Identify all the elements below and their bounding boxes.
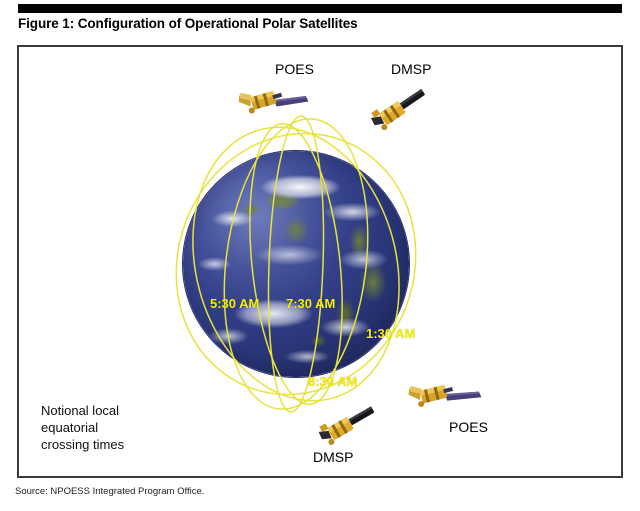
top-black-rule	[18, 4, 622, 13]
satellite-icon-poes-top	[238, 80, 310, 122]
satellite-icon-poes-bottom	[407, 374, 483, 418]
orbit-ring-4	[264, 115, 328, 413]
satellite-label-poes-bottom: POES	[449, 419, 488, 435]
crossing-time-0130: 1:30 AM	[366, 326, 415, 341]
crossing-time-0730: 7:30 AM	[286, 296, 335, 311]
dmsp-solar-panel	[400, 89, 425, 109]
satellite-label-dmsp-top: DMSP	[391, 61, 431, 77]
notional-caption-line-3: crossing times	[41, 436, 124, 453]
crossing-time-0530: 5:30 AM	[210, 296, 259, 311]
diagram-stage: 5:30 AM 7:30 AM 1:30 AM 8:30 AM	[19, 47, 623, 476]
figure-page: Figure 1: Configuration of Operational P…	[0, 0, 640, 511]
notional-crossing-caption: Notional local equatorial crossing times	[41, 402, 124, 453]
notional-caption-line-1: Notional local	[41, 402, 124, 419]
notional-caption-line-2: equatorial	[41, 419, 124, 436]
orbit-ring-3	[163, 104, 428, 424]
satellite-icon-dmsp-top	[370, 84, 434, 144]
figure-title: Figure 1: Configuration of Operational P…	[18, 16, 618, 31]
crossing-time-0830: 8:30 AM	[308, 374, 357, 389]
figure-frame: 5:30 AM 7:30 AM 1:30 AM 8:30 AM	[17, 45, 623, 478]
satellite-label-dmsp-bottom: DMSP	[313, 449, 353, 465]
orbit-ring-5	[140, 100, 452, 429]
source-note: Source: NPOESS Integrated Program Office…	[15, 486, 204, 497]
satellite-label-poes-top: POES	[275, 61, 314, 77]
